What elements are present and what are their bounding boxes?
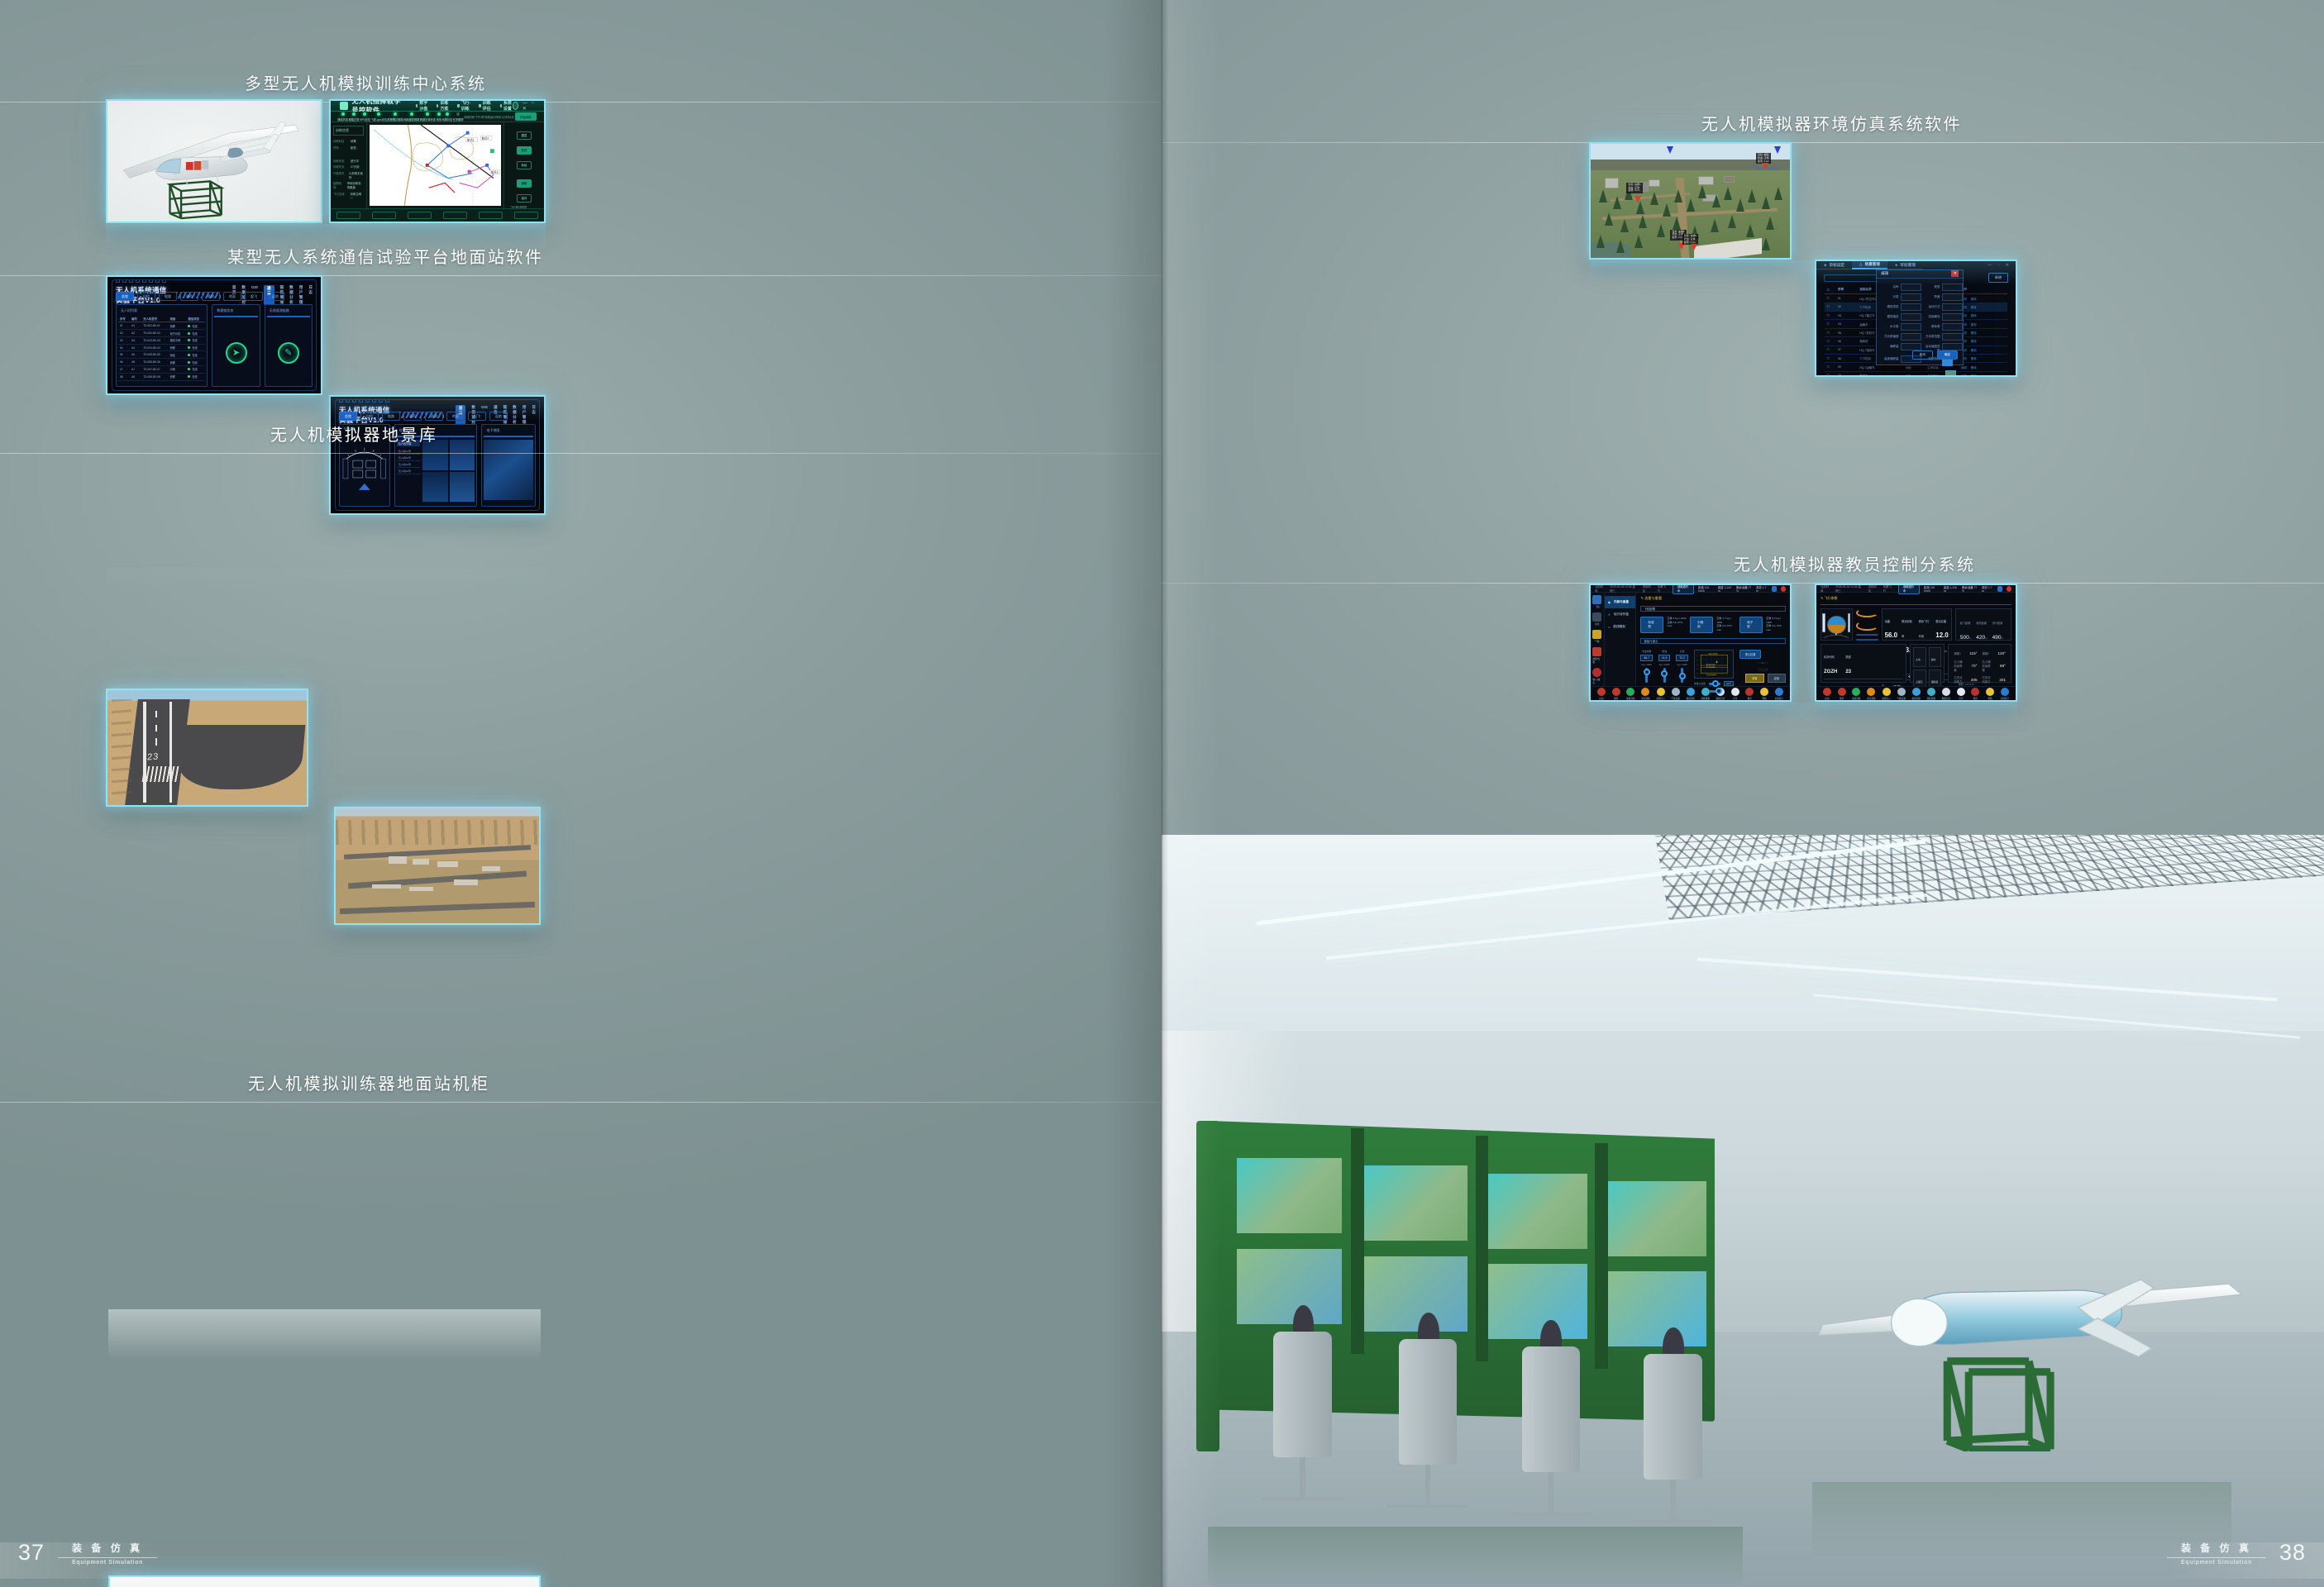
dock-instructor[interactable]: 教员 — [1745, 688, 1754, 700]
cell-actions[interactable]: 编辑删除 — [1959, 371, 2007, 377]
station-screen-upper[interactable] — [1487, 1174, 1587, 1249]
cloud-icon — [1672, 688, 1680, 696]
bottom-button[interactable] — [336, 212, 360, 219]
cell-status: 在线 — [186, 330, 205, 337]
warning-icon — [1592, 647, 1601, 656]
rail-item-weather[interactable]: 气象 — [1592, 630, 1601, 643]
col-0: 序号 — [118, 315, 130, 322]
dock-reset[interactable]: 训练重置 — [1927, 688, 1935, 700]
slider-track[interactable] — [1645, 668, 1648, 683]
cell: 侦察 — [168, 373, 186, 380]
field-label: 偏移量 — [1882, 343, 1898, 353]
right-row1-reflection — [1589, 260, 2017, 285]
rail-item-aircraft[interactable]: 飞机 — [1592, 595, 1601, 608]
gcs-body: 训练信息 训练科目侦察 任务航拍 训练状态进行中 训练时长27分钟 气象条件小风… — [331, 122, 544, 208]
time-label: 当前时间 — [1595, 584, 1605, 593]
settings-gear-icon[interactable] — [1997, 586, 2002, 592]
capacity-kv-0: 空重 4 kg x 1000 空重 CG 37% mac — [1667, 617, 1687, 633]
online-dot-icon — [188, 361, 190, 364]
svg-text:最大着陆重量限制: 最大着陆重量限制 — [1706, 664, 1716, 666]
uav-vector — [107, 101, 321, 222]
bottom-button[interactable] — [514, 212, 537, 219]
instructor-rail[interactable]: 飞机 任务 气象 故障/告警 输入/输出 训练回放 过程记录 评估检测 参数设置 — [1591, 593, 1605, 686]
kpi-value: 12.0 — [1935, 631, 1949, 639]
status-right-0: 本地时间 下午4时 — [464, 115, 484, 119]
vslider-fuel[interactable]: 燃油 11.5 kg x 1000 — [1658, 650, 1670, 683]
row-checkbox[interactable]: ☐ — [1825, 354, 1835, 362]
video-uav-list[interactable]: 无人机列表 无人机01号 无人机02号 无人机03号 无人机04号 — [397, 440, 420, 502]
hslider-knob[interactable] — [1716, 688, 1722, 694]
bottom-button[interactable] — [372, 212, 395, 219]
help-icon — [1760, 688, 1768, 696]
sub-3[interactable]: 载荷 — [180, 292, 198, 301]
dialog-form[interactable]: 名称 类型 分类 阵营 模型类型 运动方式 模型缩放 初始朝向 — [1877, 279, 1963, 377]
delete-link[interactable]: 删除 — [1971, 314, 1977, 317]
status-dot-icon — [426, 112, 429, 116]
uav-list-card[interactable]: 无人机列表 序号 编号 无人机型号 用途 通信状态 01A1TD-001-BX-… — [116, 304, 208, 387]
row-checkbox[interactable]: ☐ — [1825, 346, 1835, 354]
field-input-heading[interactable] — [1942, 313, 1964, 321]
instructor-dock[interactable]: 启动 暂停 恢复训练 结束训练 故障注入 气象设置 视景切换 训练重置 数据记录… — [1591, 686, 1790, 700]
spread-gutter-line — [1162, 0, 1163, 1587]
cg-position-button[interactable]: 重心位置 — [1739, 650, 1762, 659]
emap-card[interactable]: 电子地图 — [481, 424, 536, 507]
video-tile[interactable] — [422, 472, 448, 502]
capacity-button-2[interactable]: 电子型 — [1739, 617, 1763, 633]
svg-text:航点3: 航点3 — [491, 170, 499, 174]
subnav-power-stores[interactable]: ✈ 动力与外挂 — [1605, 608, 1636, 621]
slider-value: 56.7 — [1640, 655, 1653, 661]
field-select-motion[interactable] — [1942, 303, 1964, 311]
slider-zone[interactable]: 零油重量 56.7 kg x 1000 燃油 11.5 kg x 1000 — [1640, 650, 1786, 683]
cabinets-vector — [110, 1577, 539, 1587]
power-icon[interactable] — [1781, 586, 1786, 592]
mission-icon — [1592, 612, 1601, 622]
capacity-button-1[interactable]: 中程型 — [1690, 617, 1713, 633]
flight-parameter-shot[interactable]: 当前时间 2025.06.18 14:36 星期三 训练科目 侦察飞行 训练进行… — [1815, 584, 2017, 702]
dock-start[interactable]: 启动 — [1823, 688, 1831, 700]
delete-link[interactable]: 删除 — [1971, 374, 1977, 377]
row-checkbox[interactable]: ☐ — [1825, 294, 1835, 303]
delete-link[interactable]: 删除 — [1971, 323, 1977, 326]
row-checkbox[interactable]: ☐ — [1825, 303, 1835, 311]
slider-track[interactable] — [1663, 668, 1666, 683]
subnav-route-plan[interactable]: ∞ 航线规划 — [1605, 621, 1636, 633]
slider-knob[interactable] — [1644, 669, 1650, 675]
panel-tab-1[interactable]: 航线 — [517, 146, 532, 155]
vslider-zfw[interactable]: 零油重量 56.7 kg x 1000 — [1640, 650, 1653, 683]
rail-item-io[interactable]: 输入/输出 — [1592, 668, 1601, 684]
row-checkbox[interactable]: ☐ — [1825, 328, 1835, 336]
cell: 01 — [1835, 294, 1857, 303]
gcs-tab-4[interactable]: 系统设置 — [500, 100, 513, 112]
cell-status: 在线 — [186, 336, 205, 344]
power-icon[interactable] — [2007, 586, 2011, 592]
cell-actions[interactable]: 编辑删除 — [1959, 354, 2007, 362]
info-val: 侦察 — [351, 139, 356, 143]
video-list-item[interactable]: 无人机01号 — [397, 448, 420, 455]
chair-back — [1273, 1332, 1332, 1457]
map-vector: 航点1 航点2 航点3 — [370, 125, 501, 206]
comm-platform-shot-left[interactable]: 无人机系统通信实验平台V1.0 首页 数据监控 GIS 通信 链路管理 数据分析… — [106, 275, 322, 395]
chair-pole — [1549, 1472, 1554, 1513]
station-screen-upper[interactable] — [1237, 1158, 1342, 1233]
bottom-button[interactable] — [443, 212, 466, 219]
terrain-apron-shot — [334, 807, 541, 925]
online-dot-icon — [188, 368, 190, 370]
stat-1: 高度 1,120 m — [1944, 585, 1958, 593]
table-row[interactable]: 01A1TD-001-BX-01侦察在线 — [118, 322, 205, 330]
delete-link[interactable]: 删除 — [1971, 298, 1977, 301]
field-input-dirdev[interactable] — [1901, 333, 1922, 341]
operator-chair-3 — [1510, 1346, 1591, 1550]
footer-right: 装 备 仿 真 Equipment Simulation 38 — [2167, 1540, 2306, 1566]
row-checkbox[interactable]: ☐ — [1825, 363, 1835, 371]
end-icon — [1641, 688, 1649, 696]
stat-2: 剩余油量 77 % — [1962, 585, 1978, 593]
delete-link[interactable]: 删除 — [1971, 340, 1977, 343]
cell: TD-005-BX-05 — [141, 351, 168, 359]
aircraft-top-silhouette-icon — [1739, 661, 1786, 665]
video-list-item[interactable]: 无人机03号 — [397, 461, 420, 468]
start-icon — [1823, 688, 1831, 696]
status-item-0: 通信状态 — [337, 112, 348, 122]
field-input-horizontal[interactable] — [1901, 323, 1922, 331]
delete-link[interactable]: 删除 — [1971, 349, 1977, 352]
table-row[interactable]: 06A6TD-006-BX-06侦察在线 — [118, 359, 205, 366]
dock-print[interactable]: 打印 — [1731, 688, 1739, 700]
cell: TD-007-BX-07 — [141, 366, 168, 374]
perf-0: 起飞距离500m — [1960, 613, 1974, 643]
field-label: 方向角范围 — [1923, 333, 1940, 341]
dock-fault[interactable]: 故障注入 — [1882, 688, 1890, 700]
training-room-render — [1162, 835, 2324, 1587]
kpi-label: 燃油消耗率 — [1902, 620, 1912, 638]
reset-icon — [1927, 688, 1935, 696]
cloud-icon — [1897, 688, 1906, 696]
apply-button[interactable]: 应用 — [1768, 674, 1786, 683]
led-0: 主电 — [1913, 647, 1926, 667]
emap-canvas[interactable] — [484, 440, 533, 500]
field-input-pitch[interactable] — [1942, 323, 1964, 331]
dock-instructor[interactable]: 教员 — [1971, 688, 1979, 700]
field-input-scale[interactable] — [1901, 313, 1922, 321]
console-floor-reflection — [1208, 1527, 1743, 1587]
slider-track[interactable] — [1681, 668, 1683, 683]
start-training-button[interactable]: 开始训练 — [515, 112, 537, 121]
panel-tab-2[interactable]: 标绘 — [517, 161, 532, 169]
rail-item-fault[interactable]: 故障/告警 — [1592, 647, 1601, 664]
ground-station-cabinets-shot — [108, 1575, 541, 1587]
building — [1724, 176, 1734, 183]
capacity-kv-1: 空重 4.7 kg x 1000 空重 CG 37% mac — [1716, 617, 1736, 633]
table-row[interactable]: 07A7TD-007-BX-07中继在线 — [118, 366, 205, 374]
runway-edge-line — [143, 702, 146, 803]
field-input-dirrange[interactable] — [1942, 333, 1964, 341]
cell-actions[interactable]: 编辑删除 — [1959, 337, 2007, 346]
row-checkbox[interactable]: ☐ — [1825, 337, 1835, 346]
gcs-window-controls[interactable]: — ▫ ✕ — [513, 101, 539, 112]
flight-row-1: 油量 56.0 kg x 1000 燃油消耗率 23.1 % 剩余飞行时间 — [1821, 608, 2011, 641]
cell-actions[interactable]: 编辑删除 — [1959, 328, 2007, 336]
warehouse — [372, 884, 400, 889]
svg-text:65: 65 — [1696, 665, 1698, 666]
delete-link[interactable]: 删除 — [1971, 366, 1977, 369]
sub-0[interactable]: 总览 — [116, 292, 134, 301]
gcs-app-shot[interactable]: 无人机指挥教学号控软件 数字沙盘 训练方案 飞行-训练 训练评估 系统设置 — … — [329, 99, 546, 223]
svg-text:25: 25 — [1716, 674, 1718, 676]
capacity-row[interactable]: 标准型 空重 4 kg x 1000 空重 CG 37% mac 中程型 空重 … — [1640, 617, 1786, 633]
comm-left-header: 无人机系统通信实验平台V1.0 首页 数据监控 GIS 通信 链路管理 数据分析… — [107, 277, 321, 292]
cell-actions[interactable]: 编辑删除 — [1959, 363, 2007, 371]
row-checkbox[interactable]: ☐ — [1825, 320, 1835, 328]
row3-reflection — [106, 568, 546, 593]
table-row[interactable]: 08A8TD-008-BX-08侦察在线 — [118, 373, 205, 380]
slider-knob[interactable] — [1661, 670, 1668, 677]
chair-base — [1387, 1505, 1468, 1508]
bottom-button[interactable] — [479, 212, 502, 219]
field-select-faction[interactable] — [1942, 293, 1964, 301]
rail-item-mission[interactable]: 任务 — [1592, 612, 1601, 626]
kpi-label: 载油总量 — [1935, 620, 1946, 623]
building — [1698, 176, 1714, 185]
cancel-button[interactable]: 取消 — [1912, 350, 1933, 360]
config-bar: 飞机配置 — [1640, 606, 1786, 612]
chair-back — [1522, 1346, 1581, 1472]
info-row: 任务航拍 — [333, 145, 364, 150]
page-number-left: 37 — [18, 1540, 45, 1566]
cell: A3 — [130, 336, 141, 344]
info-key: 训练科目 — [333, 139, 347, 143]
dock-multiscreen[interactable]: 多屏显示 — [1775, 688, 1783, 700]
building — [482, 866, 500, 872]
cell: A7 — [130, 366, 141, 374]
instructor-control-shot[interactable]: 当前时间 2025.06.18 14:36 星期三 训练科目 侦察飞行 训练进行… — [1589, 584, 1792, 702]
dock-print[interactable]: 打印 — [1957, 688, 1965, 700]
svg-text:航点1: 航点1 — [467, 138, 475, 142]
row-checkbox[interactable]: ☐ — [1825, 371, 1835, 377]
station-screen-upper[interactable] — [1362, 1165, 1467, 1241]
gcs-map-canvas[interactable]: 航点1 航点2 航点3 — [370, 125, 501, 206]
video-grid[interactable] — [422, 440, 475, 502]
bottom-button[interactable] — [408, 212, 431, 219]
cg-envelope-block: 最大起飞重量限制 最大着陆重量限制 最大零油重量限制 最大滑行重量限制 1015… — [1694, 650, 1734, 683]
video-tile[interactable] — [450, 440, 475, 469]
field-label: 阵营 — [1923, 293, 1940, 301]
cell-actions[interactable]: 编辑删除 — [1959, 312, 2007, 320]
gcs-tab-1[interactable]: 训练方案 — [437, 100, 449, 112]
cell-actions[interactable]: 编辑删除 — [1959, 346, 2007, 354]
video-list-item[interactable]: 无人机04号 — [397, 468, 420, 474]
led-1: 备电 — [1929, 647, 1942, 667]
cell-status: 在线 — [186, 344, 205, 351]
sub-1[interactable]: 自检 — [137, 292, 155, 301]
table-row[interactable]: 02A2TD-002-BX-02电子对抗在线 — [118, 330, 205, 337]
field-select-category[interactable] — [1901, 293, 1922, 301]
dock-view[interactable]: 视景切换 — [1911, 688, 1920, 700]
info-row: 起降机场甲地训练机场跑道 — [333, 181, 364, 189]
info-row: 飞行空域训练空域一 — [333, 192, 364, 200]
field-label: 模型缩放 — [1882, 313, 1898, 321]
dock-reset[interactable]: 训练重置 — [1701, 688, 1710, 700]
status-item-5: 地面遥控链路 — [403, 112, 419, 122]
section-title-5: 无人机模拟器环境仿真系统软件 — [1701, 111, 1962, 135]
panel-save-button[interactable]: 保存 — [517, 194, 532, 203]
sub-6[interactable]: 起飞 — [245, 292, 263, 301]
table-row[interactable]: 05A5TD-005-BX-05测绘在线 — [118, 351, 205, 359]
field-label: 分类 — [1882, 293, 1898, 301]
vslider-gross[interactable]: 全重 72.2 kg x 1000 — [1676, 650, 1688, 683]
dock-multiscreen[interactable]: 多屏显示 — [2001, 688, 2009, 700]
slider-value: 72.2 — [1676, 655, 1688, 661]
dock-end[interactable]: 结束训练 — [1867, 688, 1875, 700]
hslider-knob[interactable] — [1712, 680, 1719, 687]
stat-0: 航速 115 km/h — [1924, 585, 1940, 593]
user-avatar[interactable] — [513, 102, 518, 110]
dock-start[interactable]: 启动 — [1597, 688, 1606, 700]
session-label: 训练科目 — [1643, 584, 1653, 593]
delete-link[interactable]: 删除 — [1971, 306, 1977, 309]
dock-resume[interactable]: 恢复训练 — [1852, 688, 1860, 700]
cell: 07 — [118, 366, 130, 374]
svg-text:45: 45 — [1696, 673, 1698, 674]
flight-topbar: 当前时间 2025.06.18 14:36 星期三 训练科目 侦察飞行 训练进行… — [1816, 585, 2016, 593]
gcs-tab-2[interactable]: 飞行-训练 — [457, 100, 470, 112]
status-text: 在线 — [192, 375, 197, 379]
dock-record[interactable]: 数据记录 — [1942, 688, 1950, 700]
cell: 电子对抗 — [168, 330, 186, 337]
uav-list-table: 序号 编号 无人机型号 用途 通信状态 01A1TD-001-BX-01侦察在线… — [118, 315, 205, 380]
footer-rule — [2167, 1557, 2266, 1558]
field-input-offset[interactable] — [1901, 343, 1922, 350]
sub-4[interactable]: 遥测 — [202, 292, 220, 301]
info-key: 气象条件 — [333, 171, 346, 179]
status-text: 在线 — [192, 354, 197, 357]
panel-tab-0[interactable]: 图层 — [517, 131, 532, 140]
sub-5[interactable]: 地面 — [223, 292, 241, 301]
speed-tape — [1822, 613, 1825, 632]
info-val: 进行中 — [351, 159, 359, 163]
status-dot-icon — [363, 112, 366, 116]
subnav-fuel-weight[interactable]: ◉ 内部与重量 — [1605, 596, 1636, 608]
cell: 05 — [118, 351, 130, 359]
dock-help[interactable]: 帮助 — [1986, 688, 1994, 700]
taxiway-loop — [176, 725, 305, 789]
panel-tab-row[interactable]: 图层 航线 标绘 — [507, 126, 542, 170]
sub-7[interactable]: 返航 — [266, 292, 284, 301]
cell-actions[interactable]: 编辑删除 — [1959, 294, 2007, 303]
dock-resume[interactable]: 恢复训练 — [1626, 688, 1634, 700]
status-text: 在线 — [192, 346, 197, 350]
footer-rule — [58, 1557, 157, 1558]
window-buttons-icon[interactable]: — ▫ ✕ — [523, 101, 536, 112]
gcs-status-bar: 通信状态 链路正常 GPS定位 飞控-gps定位 航管雷达链路 地面遥控链路 数… — [331, 112, 544, 122]
footer-en-left: Equipment Simulation — [72, 1560, 143, 1566]
dock-weather[interactable]: 气象设置 — [1897, 688, 1905, 700]
hslider-track[interactable] — [1709, 683, 1720, 685]
gcs-left-panel: 训练信息 训练科目侦察 任务航拍 训练状态进行中 训练时长27分钟 气象条件小风… — [331, 122, 367, 208]
gcs-tabs[interactable]: 数字沙盘 训练方案 飞行-训练 训练评估 系统设置 — [416, 100, 513, 112]
fuel-kpi-box: 油量 56.0 kg x 1000 燃油消耗率 23.1 % 剩余飞行时间 — [1882, 608, 1952, 641]
dock-fault[interactable]: 故障注入 — [1656, 688, 1664, 700]
cell: TD-004-BX-04 — [141, 344, 168, 351]
display-uav — [1789, 1226, 2278, 1451]
info-val: 27分钟 — [351, 164, 360, 169]
video-tile[interactable] — [450, 472, 475, 502]
slider-knob[interactable] — [1679, 673, 1686, 679]
col-4: 通信状态 — [186, 315, 205, 322]
video-list-item[interactable]: 无人机02号 — [397, 455, 420, 461]
cell: TD-003-BX-03 — [141, 336, 168, 344]
field-select-model[interactable] — [1901, 303, 1922, 311]
dock-help[interactable]: 帮助 — [1760, 688, 1768, 700]
dock-weather[interactable]: 气象设置 — [1671, 688, 1679, 700]
cell: A8 — [130, 373, 141, 380]
dock-pause[interactable]: 暂停 — [1838, 688, 1846, 700]
training-info-header: 训练信息 — [333, 126, 364, 136]
planform-box: 襟翼1115° 襟翼2120° 左小翼/前缘襟翼72° 右小翼/前缘襟翼68° … — [1948, 644, 2011, 683]
cell: A6 — [130, 359, 141, 366]
building — [1605, 178, 1619, 188]
env-sim-3d-shot: 目标: 房屋1 状态: 正常 距离: 3 km 目标: 舰船 状态: 正常 距离… — [1589, 142, 1792, 260]
cs-row: 襟翼1115° 襟翼2120° — [1951, 649, 2008, 657]
dock-end[interactable]: 结束训练 — [1641, 688, 1649, 700]
sub-2[interactable]: 链路 — [159, 292, 177, 301]
capacity-button-0[interactable]: 标准型 — [1640, 617, 1663, 633]
settings-gear-icon[interactable] — [1772, 586, 1777, 592]
confirm-button[interactable]: 确定 — [1937, 350, 1958, 360]
gcs-right-panel[interactable]: 图层 航线 标绘 编辑 保存 飞行航线图层 主航线 备用航线 起降航线 规避航线… — [503, 122, 544, 208]
comm-subbar-left[interactable]: 总览 自检 链路 载荷 遥测 地面 起飞 返航 — [107, 292, 321, 301]
gcs-tab-0[interactable]: 数字沙盘 — [416, 100, 428, 112]
reset-button[interactable]: 重置 — [1745, 674, 1763, 683]
gcs-tab-3[interactable]: 训练评估 — [479, 100, 491, 112]
cell-actions[interactable]: 编辑删除 — [1959, 320, 2007, 328]
instructor-subnav[interactable]: ◉ 内部与重量 ✈ 动力与外挂 ∞ 航线规划 — [1605, 593, 1637, 686]
table-row[interactable]: 03A3TD-003-BX-03通信中继在线 — [118, 336, 205, 344]
footer-en-right: Equipment Simulation — [2181, 1560, 2252, 1566]
table-row[interactable]: 04A4TD-004-BX-04侦察在线 — [118, 344, 205, 351]
row-checkbox[interactable]: ☐ — [1825, 312, 1835, 320]
online-dot-icon — [188, 325, 190, 327]
uav-list-title: 无人机列表 — [118, 307, 205, 315]
runway-center-dash — [155, 725, 157, 732]
field-input-speed[interactable] — [1942, 343, 1964, 350]
dock-pause[interactable]: 暂停 — [1612, 688, 1620, 700]
dialog-footer[interactable]: 取消 确定 — [1912, 350, 1958, 360]
target-tag-0: 目标: 房屋1 状态: 正常 距离: 3 km — [1626, 183, 1642, 193]
delete-link[interactable]: 删除 — [1971, 331, 1977, 335]
gcs-bottom-bar[interactable] — [331, 208, 544, 222]
hslider-track[interactable] — [1709, 690, 1720, 693]
status-item-7: 电池 — [437, 112, 441, 122]
flight-dock[interactable]: 启动 暂停 恢复训练 结束训练 故障注入 气象设置 视景切换 训练重置 数据记录… — [1816, 686, 2016, 700]
station-screen-upper[interactable] — [1606, 1181, 1706, 1256]
chair-pole — [1425, 1465, 1431, 1505]
cell-actions[interactable]: 编辑删除 — [1959, 303, 2007, 311]
chair-base — [1262, 1498, 1343, 1500]
dock-view[interactable]: 视景切换 — [1686, 688, 1694, 700]
panel-button-row[interactable]: 编辑 保存 — [507, 174, 542, 203]
info-key: 起降机场 — [333, 181, 344, 189]
comm-body-left: 无人机列表 序号 编号 无人机型号 用途 通信状态 01A1TD-001-BX-… — [107, 301, 321, 393]
instructor-content: ✎ 油量与重量 飞机配置 标准型 空重 4 kg x 1000 空重 CG 37… — [1636, 593, 1790, 686]
status-dot-icon — [352, 112, 356, 116]
cell: TD-002-BX-02 — [141, 330, 168, 337]
panel-edit-button[interactable]: 编辑 — [517, 179, 532, 188]
delete-link[interactable]: 删除 — [1971, 357, 1977, 360]
slider-caption: 燃油 — [1662, 650, 1667, 653]
